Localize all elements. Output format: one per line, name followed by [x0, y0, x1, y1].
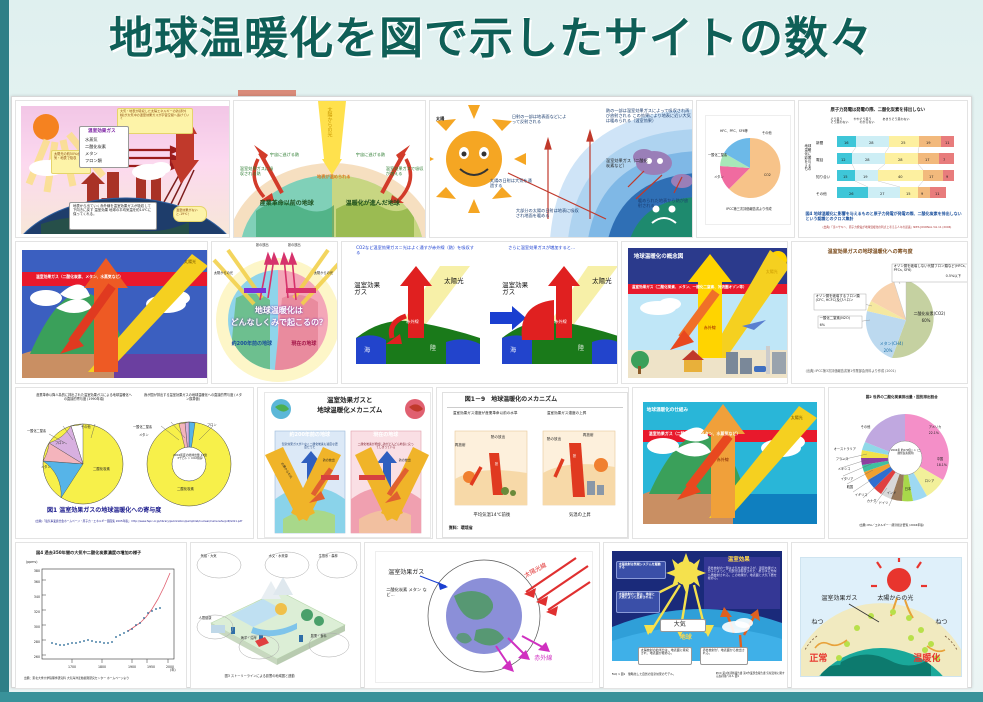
t15-label-usa: アメリカ [929, 426, 942, 430]
page-title: 地球温暖化を図で示したサイトの数々 [0, 2, 983, 66]
t13-right-head: 温室効果ガス濃度の上昇 [547, 411, 621, 415]
t15-label-france: フランス [836, 458, 849, 462]
t19-note-bottom-left-box: 太陽放射の約半分は、地表面に吸収され、地表面が暖める。 [638, 647, 692, 665]
t19-note-bottom-right: 赤外放射が、地表面から放出される。 [703, 649, 745, 656]
svg-text:知り合い: 知り合い [816, 174, 831, 179]
t3-absorb-note: 大部分の太陽の日射は地表に吸収され地面を暖める [516, 209, 580, 219]
t11-right-subtitle: 我が国が排出する温室効果ガスの地球温暖化への直接的寄与度 (メタン換算値) [143, 394, 243, 401]
t20-status-warming: 温暖化 [913, 654, 940, 664]
t15-label-other: その他 [861, 426, 871, 430]
t13-right-caption: 気温の上昇 [545, 513, 615, 518]
t1-small-note-box: 温室効果がないと-19℃！ [173, 206, 207, 222]
t5-caption-text: 図4 地球温暖化に影響を与えるものと原子力発電が発電の際、二酸化炭素を排出しない… [806, 211, 962, 221]
svg-text:380: 380 [34, 569, 40, 573]
t19-note-bottom-left: 太陽放射の約半分は、地表面に吸収され、地表面が暖める。 [641, 649, 689, 656]
t8-sea-left: 海 [364, 348, 370, 355]
t13-label-release-right: 熱の放出 [547, 437, 561, 441]
bottom-accent-rail [0, 692, 983, 702]
t13-label-heat-left: 熱 [495, 463, 498, 467]
t13-left-head: 温室効果ガス濃度が産業革命以前の水準 [453, 411, 523, 415]
t4-label-hfc: HFC、PFC、SF6等 [720, 130, 748, 134]
t7-up-left: 熱の放出 [256, 244, 269, 248]
thumb-globe-infrared-greenhouse-diagram[interactable]: 温室効果ガス 二酸化炭素 メタン など… 太陽光線 赤外線 [364, 542, 600, 689]
left-accent-rail [0, 0, 9, 702]
t15-label-japan: 日本 [905, 488, 911, 492]
t11-right-label-furon: フロン [207, 424, 217, 428]
svg-text:16: 16 [844, 141, 849, 145]
svg-text:12: 12 [841, 158, 846, 162]
t4-label-n2o: 一酸化二窒素 [708, 154, 727, 158]
svg-text:1900: 1900 [128, 665, 136, 669]
t9-band-label: 温室効果ガス（二酸化炭素、メタン、一酸化二窒素、対流圏オゾン等） [632, 285, 747, 289]
svg-text:15: 15 [906, 192, 911, 196]
svg-text:28: 28 [898, 158, 903, 162]
thumb-co2-concentration-350-years-line-chart[interactable]: 図4 過去350年間の大気中二酸化炭素濃度の増加の様子 (ppmv) 26028… [15, 542, 187, 689]
t17-bubble-3: 生態系・森林 [319, 555, 355, 559]
t12-out-label-right: 熱の放出 [399, 459, 411, 462]
t15-label-australia: オーストラリア [834, 448, 856, 452]
t7-up-right: 熱の放出 [288, 244, 301, 248]
svg-text:40: 40 [898, 175, 903, 179]
svg-text:1950: 1950 [147, 665, 155, 669]
t7-title-line2: どんなしくみで起こるの？ [224, 318, 334, 327]
t5-legend-2: あまりそう思わない [883, 117, 910, 121]
t15-chart-source: (出典) IEA／エネルギー・経済統計要覧 (2004年版) [859, 524, 924, 527]
t10-value-n2o: 6% [820, 324, 825, 328]
t8-sun-right: 太陽光 [592, 278, 612, 285]
t14-title: 地球温暖化の仕組み [647, 408, 688, 413]
t13-label-release-left: 熱の放出 [491, 435, 505, 439]
t1-gas-panel: 温室効果ガス 水蒸気 二酸化炭素 メタン フロン類 [79, 126, 129, 168]
t12-title-line2: 地球温暖化メカニズム [285, 407, 415, 414]
t17-bubble-2: 水文・水資源 [269, 555, 303, 559]
t14-band-label: 温室効果ガス（二酸化炭素、メタン、水蒸気など） [649, 432, 741, 437]
t17-bubble-1: 気候・大気 [201, 555, 235, 559]
t2-right-arc-label: 宇宙に逃げる熱 [356, 153, 385, 158]
t13-source: 資料：環境省 [449, 526, 473, 531]
thumbnail-row-4: 図4 過去350年間の大気中二酸化炭素濃度の増加の様子 (ppmv) 26028… [15, 542, 968, 689]
t4-label-methane: メタン [714, 176, 724, 180]
t10-chart-source: (出典) IPCC第3次評価報告書第1作業部会資料より作成 (2001) [806, 370, 966, 374]
thumb-global-warming-concept-diagram[interactable]: 地球温暖化の概念図 温室効果ガス（二酸化炭素、メタン、一酸化二窒素、対流圏オゾン… [621, 241, 788, 384]
t9-title: 地球温暖化の概念図 [634, 254, 684, 260]
thumbnail-board: 大気・地表が吸収した太陽エネルギーの熱(赤外線)が大気中の温室効果ガスが宇宙空間… [11, 96, 972, 688]
t10-label-hfc: オゾン層を破壊しない代替フロン類など(HFCs, PFCs, SF6) [894, 265, 968, 273]
t10-value-ch4: 20% [884, 349, 893, 354]
t11-figure-title: 図1 温室効果ガスの地球温暖化への寄与度 [47, 508, 161, 515]
t17-bubble-6: 農業・食料 [311, 635, 347, 639]
t1-gas-item-1: 二酸化炭素 [85, 145, 106, 150]
t1-bottom-note: 地表から出ていく赤外線を温室効果ガスが吸収して下向きに戻す 温室効果 地球の平均… [73, 205, 153, 217]
thumb-ghg-pie-chart-small[interactable]: CO2 メタン 一酸化二窒素 HFC、PFC、SF6等 その他 IPCC第三次評… [696, 100, 795, 238]
t12-title-line1: 温室効果ガスと [295, 397, 405, 404]
t8-infrared-right: 赤外線 [554, 320, 567, 325]
thumb-isometric-ecosystem-impact-illustration[interactable]: 気候・大気 水文・水資源 生態系・森林 人間健康 海洋・沿岸 農業・食料 図3 … [190, 542, 362, 689]
t15-center-note: 2004年 約270億トン (二酸化炭素換算) [891, 450, 921, 456]
svg-text:17: 17 [925, 158, 930, 162]
t1-small-note: 温室効果がないと-19℃！ [176, 209, 204, 216]
t20-heat-left: ねつ [811, 620, 823, 627]
t10-label-cfc: オゾン層を破壊するフロン類(CFC, HCFC)及びハロン [816, 295, 866, 303]
svg-text:その他: その他 [816, 191, 827, 196]
t2-left-small-label: 温室効果ガスに吸収される熱 [240, 167, 274, 177]
t11-right-label-co2: 二酸化炭素 [177, 488, 194, 492]
thumb-nuclear-power-crosstab-bar-chart[interactable]: 原子力発電は発電の際、二酸化炭素を排出しない そう思う ややそう思う あまりそう… [798, 100, 968, 238]
t15-label-uk: イギリス [855, 494, 868, 498]
t12-out-label-left: 熱の放出 [323, 459, 335, 462]
t16-xlabel: (年) [170, 669, 176, 673]
t8-land-right: 陸 [578, 346, 584, 353]
thumb-global-warming-mechanism-mountain[interactable]: 地球温暖化の仕組み 温室効果ガス（二酸化炭素、メタン、水蒸気など） 太陽光 赤外… [632, 387, 825, 539]
t8-land-left: 陸 [430, 346, 436, 353]
svg-text:320: 320 [34, 610, 40, 614]
t19-title: 温室効果 [728, 557, 750, 563]
t5-legend: そう思う ややそう思う あまりそう思わない そう思わない わからない [831, 118, 951, 125]
t3-reflect-note: 日射の一部は地表面などによって反射される [512, 115, 568, 125]
t3-reemit-note: 熱の一部は温室効果ガスによって吸収され再び放射される この効果により地表に近い大… [606, 109, 692, 123]
svg-text:19: 19 [863, 175, 868, 179]
t19-note-right: 赤外放射の一部は大気を通過するが、温室効果ガス分子によって、大部分は吸収された、… [708, 567, 778, 581]
t3-pass-note: 太陽の日射は大気を通過する [490, 179, 536, 189]
t15-label-italy: イタリア [841, 478, 854, 482]
thumb-ghg-contribution-pie-chart[interactable]: 温室効果ガスの地球温暖化への寄与度 [791, 241, 968, 384]
t19-atmosphere-box: 大気 [660, 619, 706, 632]
svg-text:28: 28 [869, 141, 874, 145]
t8-left-note: CO2など温室効果ガス＝光はよく通すが赤外線（熱）を吸収する [356, 246, 474, 256]
svg-text:340: 340 [34, 595, 40, 599]
t5-legend-3: そう思わない [831, 120, 849, 124]
svg-text:1700: 1700 [68, 665, 76, 669]
t2-sun-label: 太陽からの光 [326, 107, 332, 137]
t15-label-india: インド [887, 492, 897, 496]
t8-right-note: さらに温室効果ガスが増加すると… [508, 246, 618, 251]
t15-label-canada: カナダ [867, 500, 877, 504]
svg-text:280: 280 [34, 640, 40, 644]
svg-text:260: 260 [34, 655, 40, 659]
svg-text:17: 17 [929, 175, 934, 179]
t3-sun-label: 太陽 [436, 117, 444, 122]
t15-label-china: 中国 [937, 458, 943, 462]
t16-chart-title: 図4 過去350年間の大気中二酸化炭素濃度の増加の様子 [36, 551, 141, 556]
thumb-mountain-greenhouse-arrows-diagram[interactable]: 温室効果ガス（二酸化炭素、メタン、水蒸気など） 太陽光 [15, 241, 208, 384]
thumb-how-global-warming-works-circle[interactable]: 地球温暖化は どんなしくみで起こるの？ 約200年前の地球 現在の地球 太陽から… [211, 241, 338, 384]
t20-ghg-label: 温室効果ガス [821, 596, 857, 603]
t11-figure-source: (出典)『電気事業連合会ホームページ・原子力・エネルギー図面集 2005年版』 … [35, 520, 245, 523]
t1-gas-item-2: メタン [85, 152, 98, 157]
t16-chart-source: 出典：東北大学大学院理学研究科 大気海洋変動観測研究センター ホームページより [24, 677, 182, 680]
t4-label-other: その他 [762, 132, 772, 136]
svg-text:7: 7 [943, 158, 945, 162]
t5-chart-title: 原子力発電は発電の際、二酸化炭素を排出しない [831, 109, 926, 114]
t10-chart-title: 温室効果ガスの地球温暖化への寄与度 [828, 250, 913, 256]
t15-value-china: 18.1% [937, 464, 947, 468]
t20-heat-right: ねつ [935, 620, 947, 627]
svg-text:360: 360 [34, 580, 40, 584]
t18-gas-list: 二酸化炭素 メタン など… [386, 588, 430, 598]
t8-sea-right: 海 [510, 348, 516, 355]
t19-note-left: 太陽放射の一部は、地球と大気によって反射される。 [619, 593, 657, 600]
t20-sunlight-label: 太陽からの光 [877, 596, 913, 603]
svg-text:25: 25 [901, 141, 906, 145]
t3-radiate-note: 暖められた地表から熱が放射される [638, 199, 690, 209]
t8-ghg-left: 温室効果ガス [354, 282, 384, 297]
t5-chart-caption: 図4 地球温暖化に影響を与えるものと原子力発電が発電の際、二酸化炭素を排出しない… [806, 212, 964, 221]
t11-center-note: 2004年度の総排出量 13億3千万トン CO2換算 [173, 454, 207, 460]
t13-left-caption: 平均気温14℃前後 [457, 513, 527, 518]
t19-note-top-left: 太陽放射は気候システムを駆動する [619, 563, 663, 570]
t19-note-top-left-box: 太陽放射は気候システムを駆動する [616, 561, 666, 579]
t17-bubble-5: 海洋・沿岸 [241, 637, 275, 641]
t6-band-label: 温室効果ガス（二酸化炭素、メタン、水蒸気など） [36, 275, 123, 279]
t7-left-caption: 約200年前の地球 [230, 342, 274, 348]
svg-text:15: 15 [843, 175, 848, 179]
t6-sun-label: 太陽光 [184, 260, 196, 265]
t12-left-panel-title: 約200年前の地球 [277, 433, 343, 439]
t15-label-germany: ドイツ [879, 502, 889, 506]
t1-top-note: 大気・地表が吸収した太陽エネルギーの熱(赤外線)が大気中の温室効果ガスが宇宙空間… [120, 110, 190, 121]
svg-text:26: 26 [849, 192, 854, 196]
t2-center-label: 地表が温められる [314, 175, 354, 180]
t2-right-caption: 温暖化が進んだ地球 [346, 201, 400, 208]
t19-caption-left: FAQ 1 図1 簡略化した自然の温室効果のモデル。 [612, 673, 702, 676]
svg-text:28: 28 [865, 158, 870, 162]
t11-left-label-other: その他 [81, 426, 91, 430]
t18-ghg-label: 温室効果ガス [388, 570, 424, 577]
t1-bottom-note-box: 地表から出ていく赤外線を温室効果ガスが吸収して下向きに戻す 温室効果 地球の平均… [69, 202, 157, 230]
t2-left-caption: 産業革命以前の地球 [260, 201, 314, 208]
svg-text:新聞: 新聞 [816, 140, 824, 145]
t12-left-note: 温室効果ガスが少なく二酸化炭素も適度な濃度だった [281, 443, 339, 449]
t13-label-reemit-right: 再放射 [583, 433, 594, 437]
t15-chart-title: 図2 世界の二酸化炭素排出量・国別排出割合 [845, 395, 959, 399]
t15-label-korea: 韓国 [847, 486, 853, 490]
t7-title-line1: 地球温暖化は [236, 306, 322, 315]
t11-left-label-furon: フロン [55, 442, 65, 446]
t18-infrared-label: 赤外線 [534, 656, 552, 663]
slide-root: 地球温暖化を図で示したサイトの数々 [0, 0, 983, 702]
thumb-co2-absorbs-infrared-two-panel[interactable]: CO2など温室効果ガス＝光はよく通すが赤外線（熱）を吸収する さらに温室効果ガス… [341, 241, 618, 384]
t11-left-label-n2o: 一酸化二窒素 [27, 430, 46, 434]
t1-gas-item-3: フロン類 [85, 159, 102, 164]
t11-left-label-co2: 二酸化炭素 [93, 468, 110, 472]
svg-text:11: 11 [945, 141, 950, 145]
thumbnail-row-2: 温室効果ガス（二酸化炭素、メタン、水蒸気など） 太陽光 [15, 241, 968, 384]
t15-label-mexico: メキシコ [838, 468, 851, 472]
t14-infrared-label: 赤外線 [717, 458, 729, 463]
t11-right-label-ch4: メタン [139, 434, 149, 438]
t10-label-n2o: 一酸化二窒素(N2O) [820, 317, 862, 321]
thumb-greenhouse-gas-earth-diagram[interactable]: 大気・地表が吸収した太陽エネルギーの熱(赤外線)が大気中の温室効果ガスが宇宙空間… [15, 100, 230, 238]
t10-value-hfc: 0.5%以下 [946, 275, 961, 279]
t7-right-caption: 現在の地球 [282, 342, 326, 348]
t3-ghg-label: 温室効果ガス（二酸化炭素など） [606, 159, 650, 169]
t15-label-russia: ロシア [925, 480, 935, 484]
svg-text:300: 300 [34, 625, 40, 629]
thumb-sun-earth-absorption-diagram[interactable]: 太陽 日射の一部は地表面などによって反射される 熱の一部は温室効果ガスによって吸… [429, 100, 693, 238]
t5-legend-4: わからない [860, 120, 875, 124]
t13-label-heat-right: 熱 [573, 455, 576, 459]
t7-side-left: 太陽からの光 [214, 272, 233, 276]
t12-right-panel-title: 現在の地球 [353, 433, 419, 439]
t19-atmosphere-label: 大気 [674, 622, 686, 629]
t19-caption-right: IPCC 第4次評価報告書 第1作業部会報告書 気候変動に関する政府間パネル 図… [716, 673, 786, 679]
thumb-figure-1-9-warming-mechanism[interactable]: 図1－9 地球温暖化のメカニズム 温室効果ガス濃度が産業革命以前の水準 温室効果… [436, 387, 629, 539]
thumbnail-row-1: 大気・地表が吸収した太陽エネルギーの熱(赤外線)が大気中の温室効果ガスが宇宙空間… [15, 100, 968, 238]
t15-value-usa: 22.1% [929, 432, 939, 436]
thumb-ghg-mechanism-two-earths[interactable]: 温室効果ガスと 地球温暖化メカニズム 約200年前の地球 現在の地球 温室効果ガ… [257, 387, 433, 539]
t1-gas-panel-title: 温室効果ガス [88, 129, 116, 134]
t17-bubble-4: 人間健康 [199, 617, 231, 621]
t2-left-arc-label: 宇宙に逃げる熱 [270, 153, 299, 158]
t10-label-co2: 二酸化炭素(CO2) [914, 312, 946, 317]
t10-value-co2: 60% [922, 319, 931, 324]
t8-infrared-left: 赤外線 [406, 320, 419, 325]
thumb-before-after-industrial-revolution-earth[interactable]: 太陽からの光 地表が温められる 宇宙に逃げる熱 宇宙に逃げる熱 温室効果ガスに吸… [233, 100, 426, 238]
t5-chart-source: (出典)「窪ニサキ～、原子力発電が地球温暖化の利点と考える人々の認識」NIES … [823, 226, 953, 229]
t11-left-subtitle: 産業革命以降人為的に排出された温室効果ガスによる地球温暖化への直接的寄与度 (1… [35, 394, 133, 401]
t11-right-label-n2o: 一酸化二窒素 [133, 426, 152, 430]
t19-note-left-box: 太陽放射の一部は、地球と大気によって反射される。 [616, 591, 660, 613]
t7-side-right: 太陽からの光 [314, 272, 333, 276]
t4-chart-source: IPCC第三次評価報告書より作成 [712, 208, 786, 212]
t13-label-reemit-left: 再放射 [455, 443, 466, 447]
thumbnail-row-3: 産業革命以降人為的に排出された温室効果ガスによる地球温暖化への直接的寄与度 (1… [15, 387, 968, 539]
t9-infrared-label: 赤外線 [704, 326, 716, 331]
thumb-world-co2-emissions-by-country-donut[interactable]: 図2 世界の二酸化炭素排出量・国別排出割合 [828, 387, 968, 539]
t14-sun-label: 太陽光 [791, 416, 803, 421]
thumb-solar-radiation-atmosphere-model[interactable]: 温室効果 太陽放射は気候システムを駆動する 太陽放射の一部は、地球と大気によって… [603, 542, 789, 689]
t2-right-small-label: 温室効果ガスで吸収が増える [386, 167, 424, 177]
t8-sun-left: 太陽光 [444, 278, 464, 285]
svg-text:電話: 電話 [816, 157, 824, 162]
t1-gas-item-0: 水蒸気 [85, 138, 98, 143]
t10-label-ch4: メタン(CH4) [880, 342, 903, 347]
t11-left-label-ch4: メタン [41, 466, 51, 470]
svg-text:27: 27 [880, 192, 885, 196]
t12-right-note: 二酸化炭素が増加し熱がどんどん地表に戻ってしまっている [357, 443, 415, 449]
svg-text:1800: 1800 [98, 665, 106, 669]
t19-note-bottom-right-box: 赤外放射が、地表面から放出される。 [700, 647, 748, 665]
svg-text:19: 19 [926, 141, 931, 145]
t19-earth-label: 地球 [680, 635, 692, 642]
thumb-normal-vs-warming-earth-diagram[interactable]: 温室効果ガス 太陽からの光 ねつ ねつ 正常 温暖化 [791, 542, 968, 689]
t8-ghg-right: 温室効果ガス [502, 282, 532, 297]
thumb-two-pie-ghg-contribution-figure1[interactable]: 産業革命以降人為的に排出された温室効果ガスによる地球温暖化への直接的寄与度 (1… [15, 387, 254, 539]
t17-caption: 図3 ストーリーラインによる影響の地域図と連動 [225, 675, 295, 679]
t9-sun-label: 太陽光 [766, 270, 778, 275]
t4-label-co2: CO2 [764, 174, 771, 178]
t13-figure-title: 図1－9 地球温暖化のメカニズム [465, 397, 557, 404]
svg-text:11: 11 [935, 192, 940, 196]
t20-status-normal: 正常 [809, 654, 827, 664]
